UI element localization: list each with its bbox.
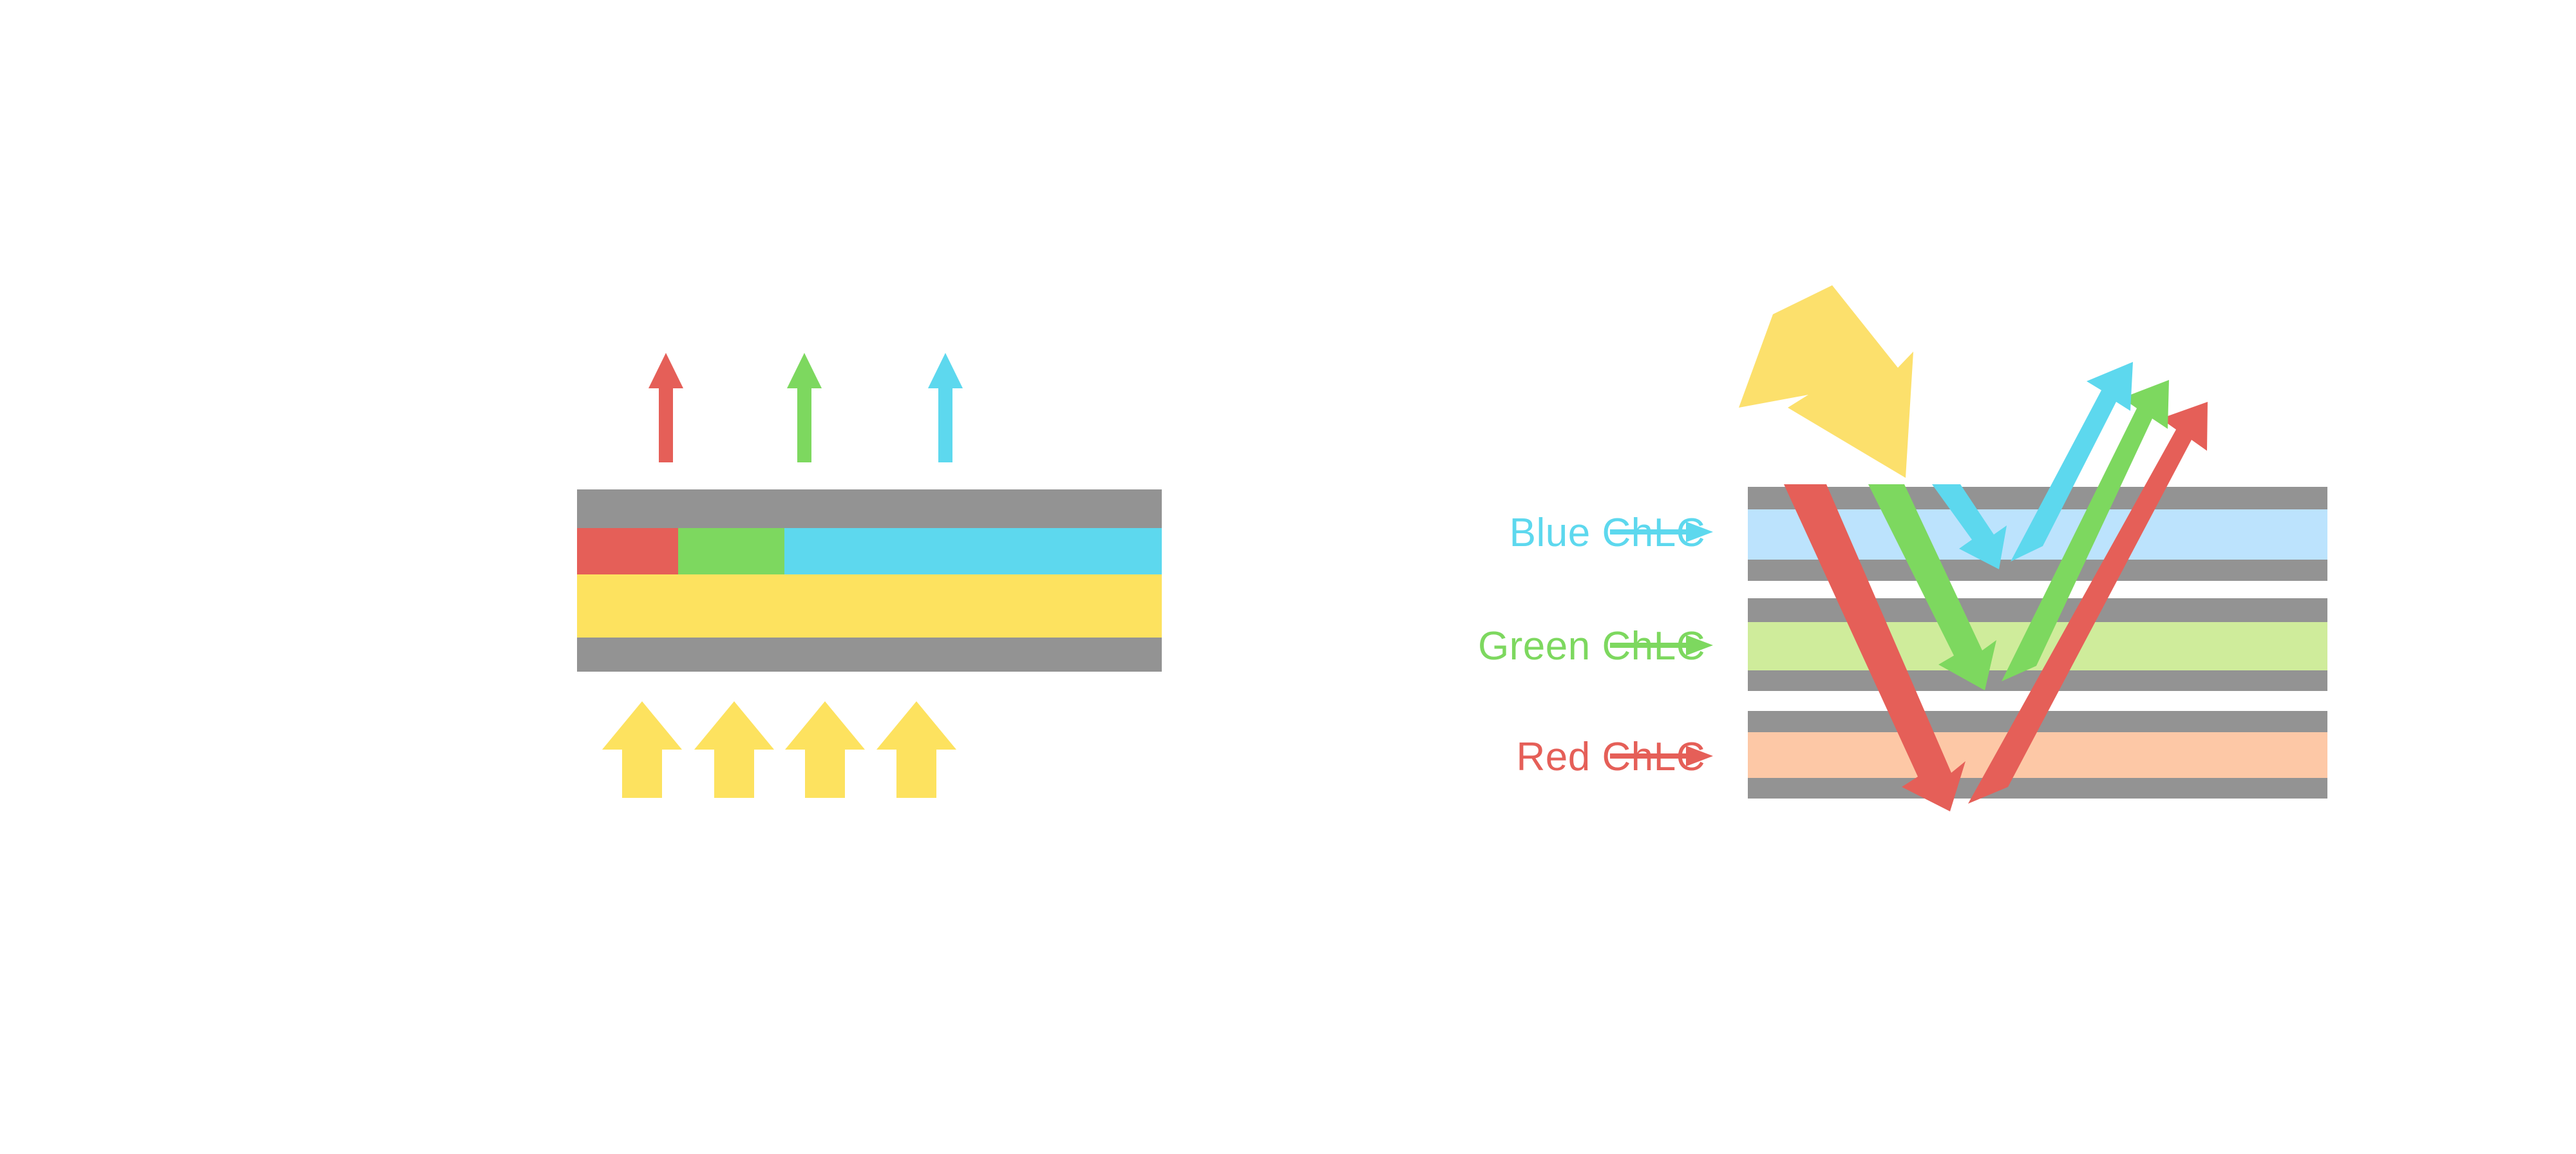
label-red-chlc: Red ChLC [1517, 735, 1713, 779]
left-layer-stack [577, 489, 1162, 672]
figure-canvas: Blue ChLC Green ChLC Red ChLC [0, 0, 2576, 1154]
green-subpixel [678, 528, 784, 574]
red-cell-bottom-electrode [1748, 778, 2327, 799]
diagram-svg: Blue ChLC Green ChLC Red ChLC [0, 0, 2576, 1154]
blue-subpixel [784, 528, 1162, 574]
red-subpixel [577, 528, 678, 574]
color-filter-layer [577, 528, 1162, 574]
top-electrode-layer [577, 489, 1162, 528]
yellow-emissive-layer [577, 574, 1162, 638]
bottom-electrode-layer [577, 638, 1162, 672]
label-green-chlc: Green ChLC [1478, 624, 1713, 668]
red-chlc-layer [1748, 732, 2327, 778]
label-blue-chlc: Blue ChLC [1510, 511, 1713, 555]
